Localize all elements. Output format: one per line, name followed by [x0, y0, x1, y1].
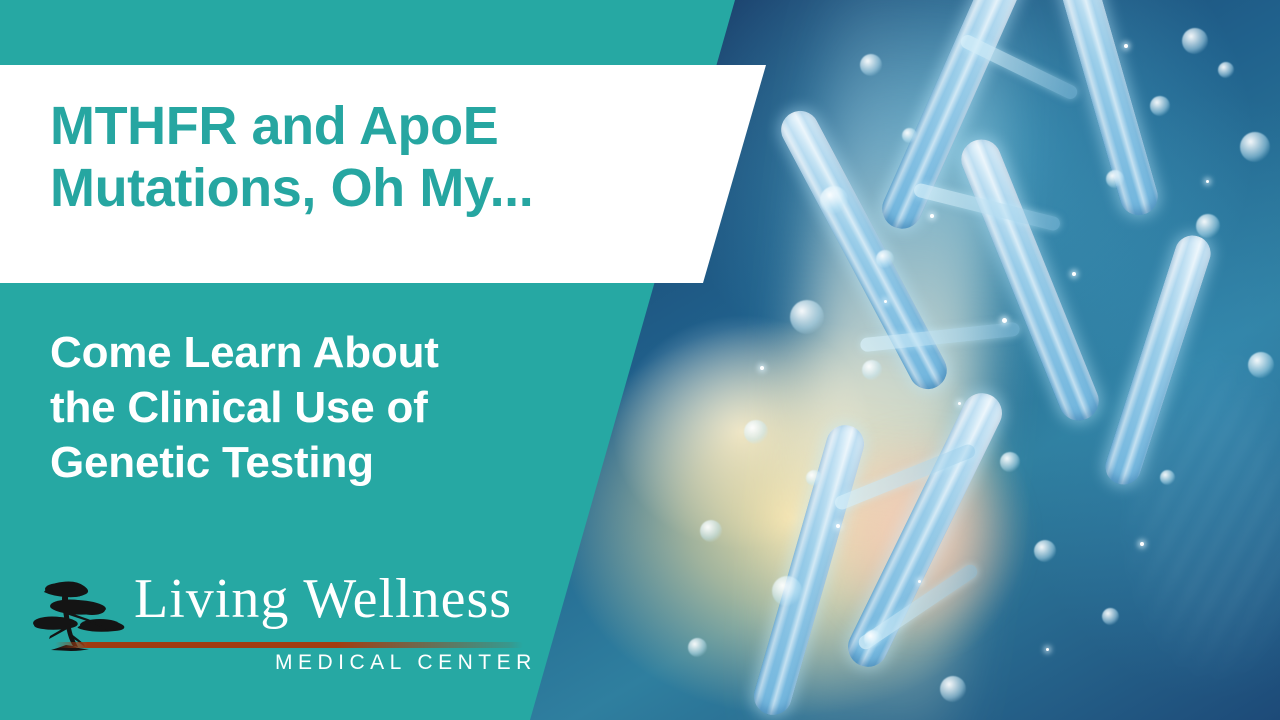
- sparkle: [1140, 542, 1144, 546]
- subtitle-line-2: the Clinical Use of: [50, 380, 570, 435]
- sparkle: [958, 402, 961, 405]
- page-title: MTHFR and ApoE Mutations, Oh My...: [50, 96, 710, 219]
- subtitle-line-3: Genetic Testing: [50, 435, 570, 490]
- logo-divider: [55, 642, 523, 648]
- sparkle: [1206, 180, 1209, 183]
- sparkle: [836, 524, 840, 528]
- sparkle: [760, 366, 764, 370]
- subtitle: Come Learn About the Clinical Use of Gen…: [50, 325, 570, 490]
- logo-wordmark: Living Wellness: [134, 571, 512, 627]
- logo: Living Wellness MEDICAL CENTER: [30, 575, 510, 675]
- logo-tagline: MEDICAL CENTER: [275, 651, 537, 675]
- sparkle: [884, 300, 887, 303]
- subtitle-line-1: Come Learn About: [50, 325, 570, 380]
- sparkle: [1124, 44, 1128, 48]
- sparkle: [930, 214, 934, 218]
- sparkle: [918, 580, 921, 583]
- promotional-banner: MTHFR and ApoE Mutations, Oh My... Come …: [0, 0, 1280, 720]
- sparkle: [1072, 272, 1076, 276]
- headline-line-2: Mutations, Oh My...: [50, 158, 710, 220]
- headline-line-1: MTHFR and ApoE: [50, 96, 710, 158]
- sparkle: [1002, 318, 1007, 323]
- sparkle: [1046, 648, 1049, 651]
